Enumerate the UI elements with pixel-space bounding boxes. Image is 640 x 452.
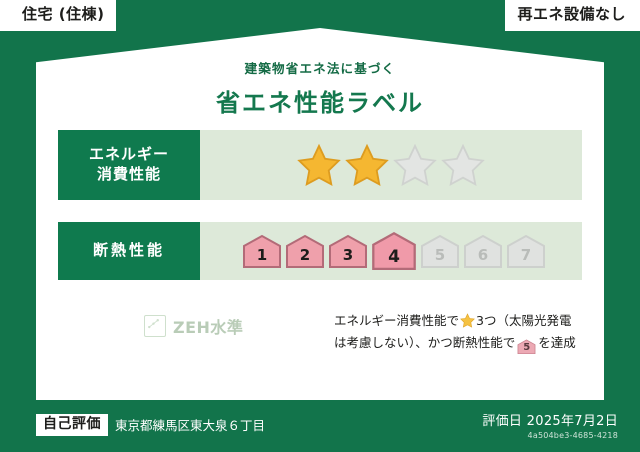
self-evaluation-badge: 自己評価 xyxy=(36,414,108,436)
insulation-level-badge: 1 xyxy=(242,234,282,268)
label-panel: 建築物省エネ法に基づく 省エネ性能ラベル エネルギー 消費性能 断熱性能 123… xyxy=(36,28,604,400)
insulation-level-badge: 2 xyxy=(285,234,325,268)
insulation-level-number: 6 xyxy=(478,248,488,268)
evaluation-date: 評価日 2025年7月2日 xyxy=(482,410,618,429)
title-block: 建築物省エネ法に基づく 省エネ性能ラベル xyxy=(36,58,604,118)
renewable-energy-tab: 再エネ設備なし xyxy=(505,0,640,31)
zeh-mark-icon xyxy=(144,315,166,337)
insulation-level-badge: 3 xyxy=(328,234,368,268)
title-subtitle: 建築物省エネ法に基づく xyxy=(36,58,604,77)
evaluation-id: 4a504be3-4685-4218 xyxy=(482,431,618,440)
insulation-level-number: 5 xyxy=(435,248,445,268)
building-type-tab: 住宅 (住棟) xyxy=(0,0,116,31)
energy-performance-label: 住宅 (住棟) 再エネ設備なし 建築物省エネ法に基づく 省エネ性能ラベル エネル… xyxy=(0,0,640,452)
insulation-performance-label: 断熱性能 xyxy=(58,222,200,280)
zeh-description-area: ZEH水準 エネルギー消費性能で3つ（太陽光発電は考慮しない）、かつ断熱性能で5… xyxy=(60,300,580,354)
zeh-standard-label: ZEH水準 xyxy=(173,314,243,338)
property-address: 東京都練馬区東大泉６丁目 xyxy=(115,417,265,436)
description-part1: エネルギー消費性能で xyxy=(334,313,459,328)
energy-star-rating xyxy=(200,130,582,200)
insulation-level-badge: 6 xyxy=(463,234,503,268)
star-empty-icon xyxy=(441,143,485,187)
page-title: 省エネ性能ラベル xyxy=(36,83,604,118)
star-filled-icon xyxy=(297,143,341,187)
insulation-level-number: 2 xyxy=(300,248,310,268)
insulation-performance-row: 断熱性能 1234567 xyxy=(58,222,582,280)
label-footer: 自己評価 東京都練馬区東大泉６丁目 評価日 2025年7月2日 4a504be3… xyxy=(0,400,640,452)
evaluation-date-value: 2025年7月2日 xyxy=(527,414,618,429)
evaluation-date-group: 評価日 2025年7月2日 4a504be3-4685-4218 xyxy=(482,410,618,440)
insulation-level-number: 4 xyxy=(388,249,400,271)
insulation-level-badge: 7 xyxy=(506,234,546,268)
inline-badge-number: 5 xyxy=(523,342,530,353)
criteria-description: エネルギー消費性能で3つ（太陽光発電は考慮しない）、かつ断熱性能で5を達成 xyxy=(334,300,580,354)
energy-label-line2: 消費性能 xyxy=(97,165,161,185)
self-evaluation-group: 自己評価 東京都練馬区東大泉６丁目 xyxy=(36,414,265,436)
description-part3: は考慮しない）、かつ断熱性能で xyxy=(334,335,515,350)
insulation-level-number: 3 xyxy=(343,248,353,268)
zeh-standard-badge: ZEH水準 xyxy=(60,300,334,338)
energy-label-line1: エネルギー xyxy=(89,145,169,165)
insulation-level-number: 7 xyxy=(521,248,531,268)
energy-performance-row: エネルギー 消費性能 xyxy=(58,130,582,200)
description-part2: 3つ（太陽光発電 xyxy=(476,313,571,328)
insulation-level-number: 1 xyxy=(257,248,267,268)
energy-performance-label: エネルギー 消費性能 xyxy=(58,130,200,200)
insulation-level-scale: 1234567 xyxy=(200,222,582,280)
evaluation-date-label: 評価日 xyxy=(482,414,522,429)
description-part4: を達成 xyxy=(538,335,576,350)
insulation-level-badge: 5 xyxy=(420,234,460,268)
inline-insulation-badge: 5 xyxy=(517,339,536,354)
star-empty-icon xyxy=(393,143,437,187)
insulation-level-badge: 4 xyxy=(371,231,417,271)
star-filled-icon xyxy=(345,143,389,187)
inline-star-icon xyxy=(460,313,475,328)
